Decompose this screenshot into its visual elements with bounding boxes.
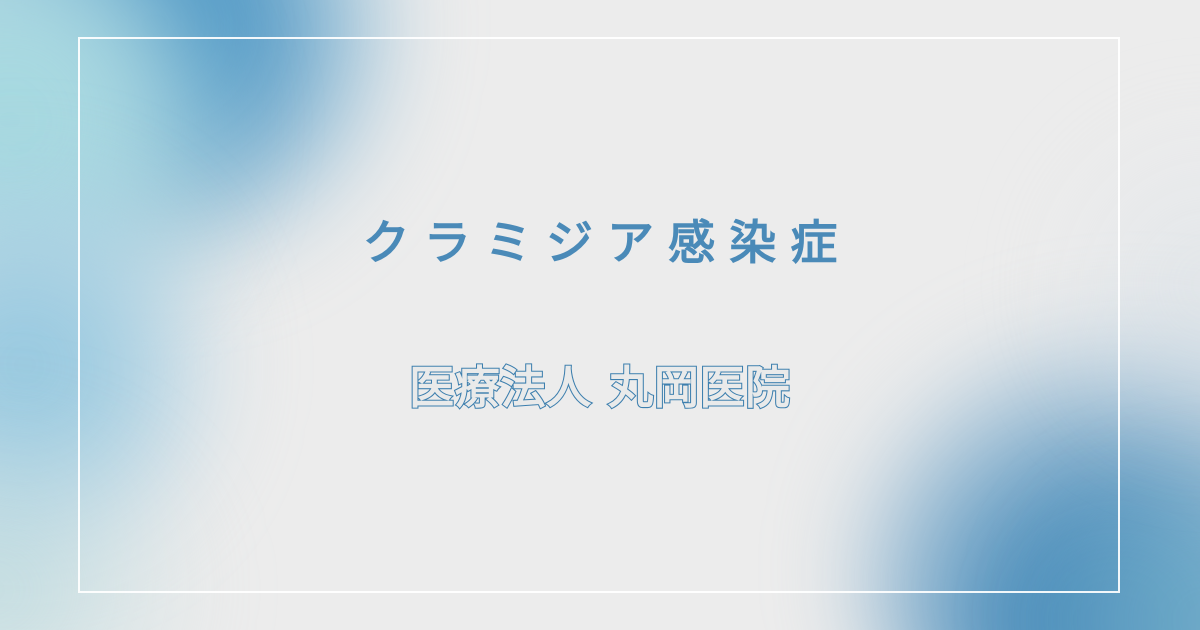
card-title: クラミジア感染症 <box>349 219 852 268</box>
share-card-canvas: クラミジア感染症 医療法人 丸岡医院 <box>0 0 1200 630</box>
card-content: クラミジア感染症 医療法人 丸岡医院 <box>0 0 1200 630</box>
card-subtitle-organization: 医療法人 丸岡医院 <box>409 364 791 411</box>
